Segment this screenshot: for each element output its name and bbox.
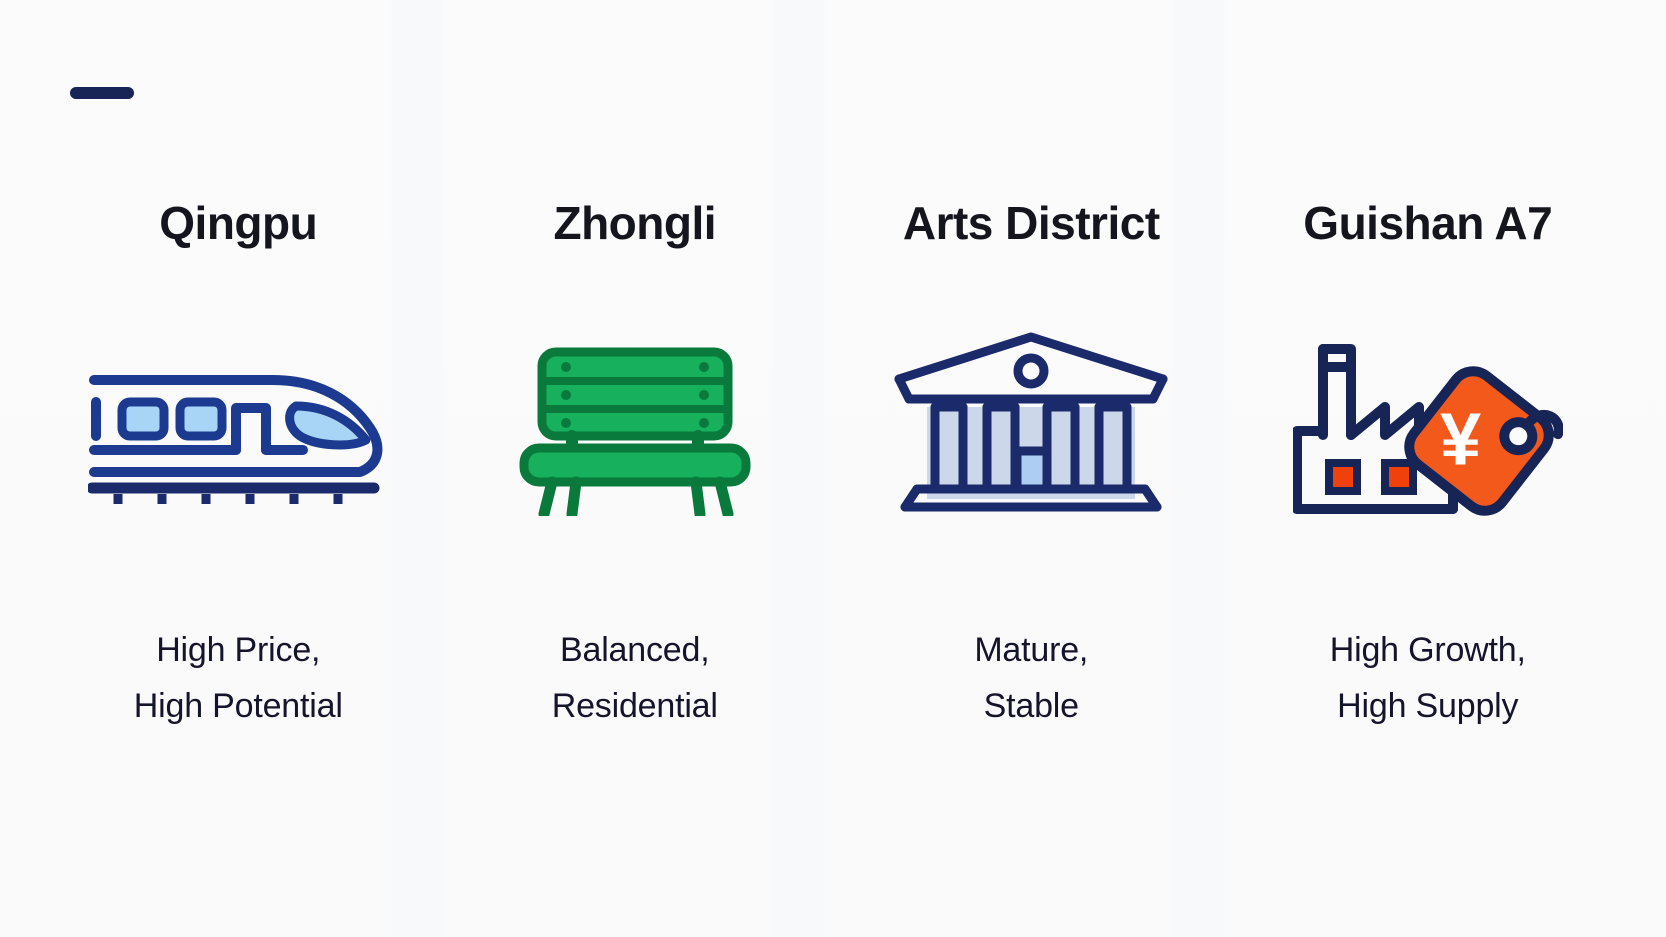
caption-line-1: Balanced,	[560, 631, 709, 669]
column-guishan-a7: Guishan A7	[1230, 200, 1627, 817]
column-title-qingpu: Qingpu	[159, 200, 317, 246]
caption-line-1: Mature,	[974, 631, 1088, 669]
park-bench-icon	[510, 336, 760, 516]
caption-line-2: High Potential	[134, 678, 343, 734]
price-tag-icon: ¥	[1399, 355, 1563, 520]
caption-line-2: Stable	[974, 678, 1088, 734]
caption-line-2: Residential	[552, 678, 718, 734]
caption-qingpu: High Price, High Potential	[134, 622, 343, 734]
icon-slot-zhongli	[437, 286, 834, 566]
column-arts-district: Arts District	[833, 200, 1230, 817]
column-title-arts-district: Arts District	[903, 200, 1160, 246]
caption-zhongli: Balanced, Residential	[552, 622, 718, 734]
caption-guishan-a7: High Growth, High Supply	[1330, 622, 1526, 734]
icon-slot-qingpu	[40, 286, 437, 566]
column-qingpu: Qingpu	[40, 200, 437, 817]
caption-line-2: High Supply	[1330, 678, 1526, 734]
factory-price-tag-icon: ¥	[1293, 331, 1563, 521]
caption-line-1: High Price,	[156, 631, 320, 669]
high-speed-train-icon	[88, 336, 388, 516]
museum-building-icon	[891, 331, 1171, 521]
icon-slot-arts-district	[833, 286, 1230, 566]
column-zhongli: Zhongli	[437, 200, 834, 817]
comparison-grid: Qingpu	[0, 0, 1666, 937]
icon-slot-guishan-a7: ¥	[1230, 286, 1627, 566]
column-title-guishan-a7: Guishan A7	[1303, 200, 1552, 246]
caption-arts-district: Mature, Stable	[974, 622, 1088, 734]
column-title-zhongli: Zhongli	[553, 200, 716, 246]
caption-line-1: High Growth,	[1330, 631, 1526, 669]
price-tag-symbol: ¥	[1440, 398, 1481, 481]
